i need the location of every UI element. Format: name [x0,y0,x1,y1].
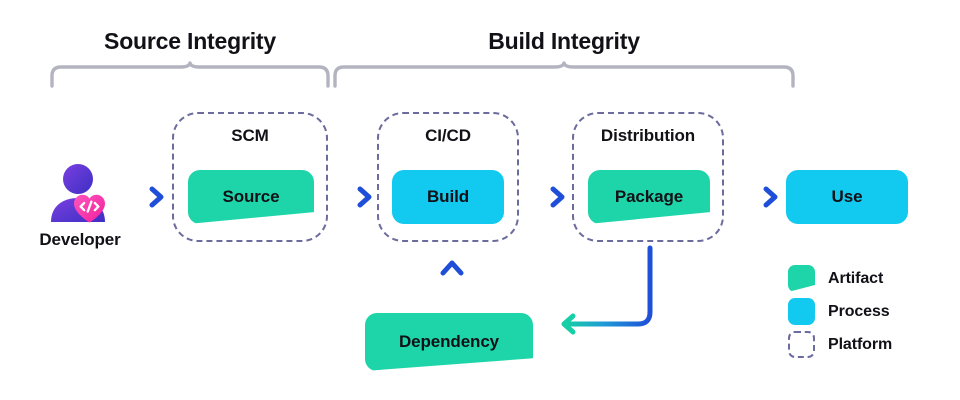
arrow-source-to-build [340,189,369,205]
arrow-build-to-package [532,189,562,205]
platform-label-distribution: Distribution [562,126,734,146]
arrow-package-to-use [740,189,775,205]
brace-source-integrity [50,62,330,88]
arrow-package-feedback-to-dependency [564,248,650,332]
node-dependency-label: Dependency [399,332,499,352]
process-shape-icon [788,298,815,325]
node-build-label: Build [427,187,469,207]
diagram-canvas: Source Integrity Build Integrity [0,0,960,400]
section-title-build-integrity: Build Integrity [333,28,795,55]
brace-build-integrity [333,62,795,88]
platform-label-cicd: CI/CD [367,126,529,146]
legend-label-artifact: Artifact [828,270,883,288]
legend-item-artifact: Artifact [788,262,953,295]
developer-code-heart-icon [43,160,117,226]
legend-item-process: Process [788,295,953,328]
platform-label-scm: SCM [162,126,338,146]
arrow-dependency-to-build [443,263,461,311]
developer-label: Developer [30,230,130,250]
node-use[interactable]: Use [786,170,908,224]
developer-actor: Developer [30,160,130,250]
node-build[interactable]: Build [392,170,504,224]
node-package-label: Package [615,187,683,207]
section-title-source-integrity: Source Integrity [50,28,330,55]
node-dependency[interactable]: Dependency [365,313,533,371]
legend-label-process: Process [828,303,890,321]
node-source-label: Source [222,187,279,207]
platform-dashed-icon [788,331,815,358]
legend: Artifact Process Platform [788,262,953,361]
node-use-label: Use [832,187,863,207]
artifact-shape-icon [788,265,815,292]
legend-label-platform: Platform [828,336,892,354]
legend-item-platform: Platform [788,328,953,361]
